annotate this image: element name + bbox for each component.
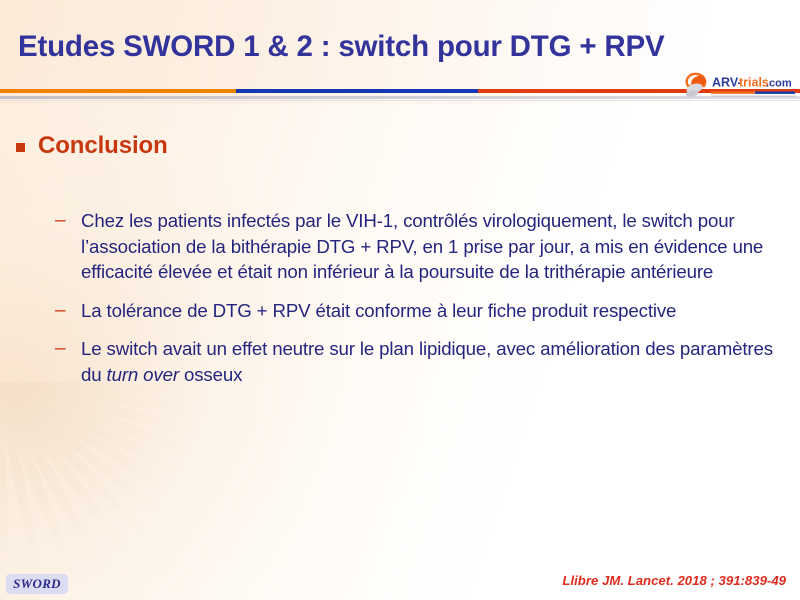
svg-text:.com: .com: [766, 78, 792, 90]
bullet-text: La tolérance de DTG + RPV était conforme…: [81, 298, 773, 324]
section-heading-label: Conclusion: [38, 132, 168, 160]
bullet-emphasis: turn over: [107, 364, 179, 385]
header-rule-blue-segment: [236, 89, 478, 93]
bullet-text: Le switch avait un effet neutre sur le p…: [81, 336, 773, 387]
header-rule-hairline: [0, 100, 800, 101]
conclusion-bullet-list: –Chez les patients infectés par le VIH-1…: [55, 208, 773, 400]
bullet-item: –Chez les patients infectés par le VIH-1…: [55, 208, 773, 285]
arv-trials-logo[interactable]: ARV- trials .com: [683, 72, 795, 102]
header-rule-orange-segment: [0, 89, 236, 93]
citation-reference: Llibre JM. Lancet. 2018 ; 391:839-49: [562, 573, 786, 588]
svg-text:ARV-: ARV-: [712, 76, 742, 90]
bullet-text: Chez les patients infectés par le VIH-1,…: [81, 208, 773, 285]
slide-canvas: Etudes SWORD 1 & 2 : switch pour DTG + R…: [0, 0, 800, 600]
bullet-item: –Le switch avait un effet neutre sur le …: [55, 336, 773, 387]
svg-text:trials: trials: [739, 76, 769, 90]
dash-bullet-icon: –: [55, 298, 81, 324]
bullet-item: –La tolérance de DTG + RPV était conform…: [55, 298, 773, 324]
sword-badge[interactable]: SWORD: [6, 574, 68, 594]
header-rule-shadow: [0, 96, 800, 99]
slide-title: Etudes SWORD 1 & 2 : switch pour DTG + R…: [18, 30, 664, 64]
section-heading: Conclusion: [16, 132, 168, 160]
dash-bullet-icon: –: [55, 208, 81, 234]
dash-bullet-icon: –: [55, 336, 81, 362]
header-rule: [0, 89, 800, 93]
square-bullet-icon: [16, 143, 25, 152]
pill-capsule-icon: [685, 74, 707, 98]
